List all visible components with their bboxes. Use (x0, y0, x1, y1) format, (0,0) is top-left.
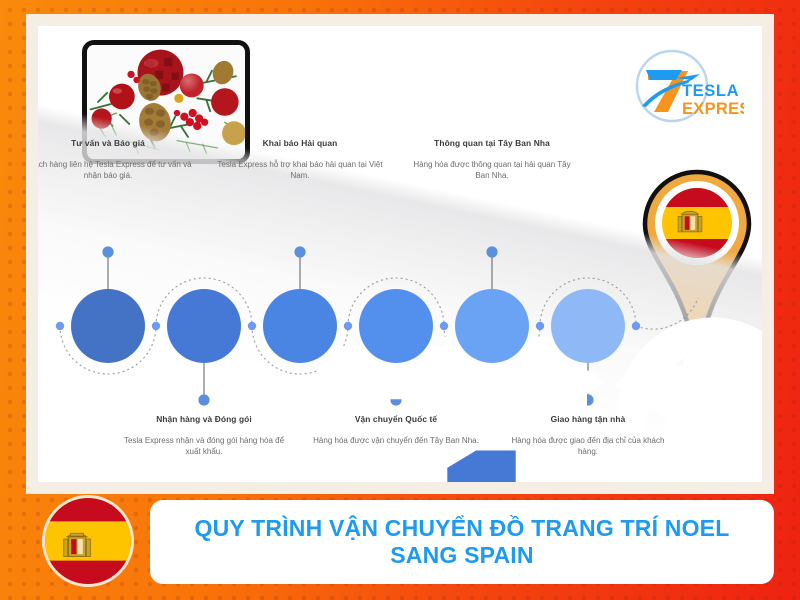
step-desc-4: Hàng hóa được vận chuyển đến Tây Ban Nha… (312, 435, 480, 447)
process-flow: Tư vấn và Báo giá Khách hàng liên hệ Tes… (38, 26, 762, 482)
step-title-5: Thông quan tại Tây Ban Nha (408, 138, 576, 149)
step-title-1: Tư vấn và Báo giá (38, 138, 192, 149)
flow-node-3[interactable] (263, 289, 337, 363)
step-title-4: Vận chuyển Quốc tế (312, 414, 480, 425)
step-desc-3: Tesla Express hỗ trợ khai báo hải quan t… (216, 159, 384, 182)
flow-node-6[interactable] (551, 289, 625, 363)
content-card: TESLA EXPRESS (38, 26, 762, 482)
content-frame: TESLA EXPRESS (26, 14, 774, 494)
title-banner: QUY TRÌNH VẬN CHUYỂN ĐỒ TRANG TRÍ NOEL S… (150, 500, 774, 584)
step-title-3: Khai báo Hải quan (216, 138, 384, 149)
step-desc-6: Hàng hóa được giao đến địa chỉ của khách… (504, 435, 672, 458)
step-text-1: Tư vấn và Báo giá Khách hàng liên hệ Tes… (38, 138, 192, 182)
flow-node-1[interactable] (71, 289, 145, 363)
step-desc-5: Hàng hóa được thông quan tại hải quan Tâ… (408, 159, 576, 182)
step-text-2: Nhận hàng và Đóng gói Tesla Express nhận… (120, 414, 288, 458)
flow-node-5[interactable] (455, 289, 529, 363)
step-desc-2: Tesla Express nhận và đóng gói hàng hóa … (120, 435, 288, 458)
spain-flag-badge (42, 495, 134, 587)
poster-root: TESLA EXPRESS (0, 0, 800, 600)
poster-title-line2: SANG SPAIN (390, 542, 533, 568)
flow-node-4[interactable] (359, 289, 433, 363)
step-text-4: Vận chuyển Quốc tế Hàng hóa được vận chu… (312, 414, 480, 446)
poster-title: QUY TRÌNH VẬN CHUYỂN ĐỒ TRANG TRÍ NOEL S… (183, 515, 742, 569)
poster-title-line1: QUY TRÌNH VẬN CHUYỂN ĐỒ TRANG TRÍ NOEL (195, 515, 730, 541)
step-title-6: Giao hàng tận nhà (504, 414, 672, 425)
step-text-3: Khai báo Hải quan Tesla Express hỗ trợ k… (216, 138, 384, 182)
flow-node-2[interactable] (167, 289, 241, 363)
step-text-6: Giao hàng tận nhà Hàng hóa được giao đến… (504, 414, 672, 458)
step-desc-1: Khách hàng liên hệ Tesla Express để tư v… (38, 159, 192, 182)
step-title-2: Nhận hàng và Đóng gói (120, 414, 288, 425)
step-text-5: Thông quan tại Tây Ban Nha Hàng hóa được… (408, 138, 576, 182)
